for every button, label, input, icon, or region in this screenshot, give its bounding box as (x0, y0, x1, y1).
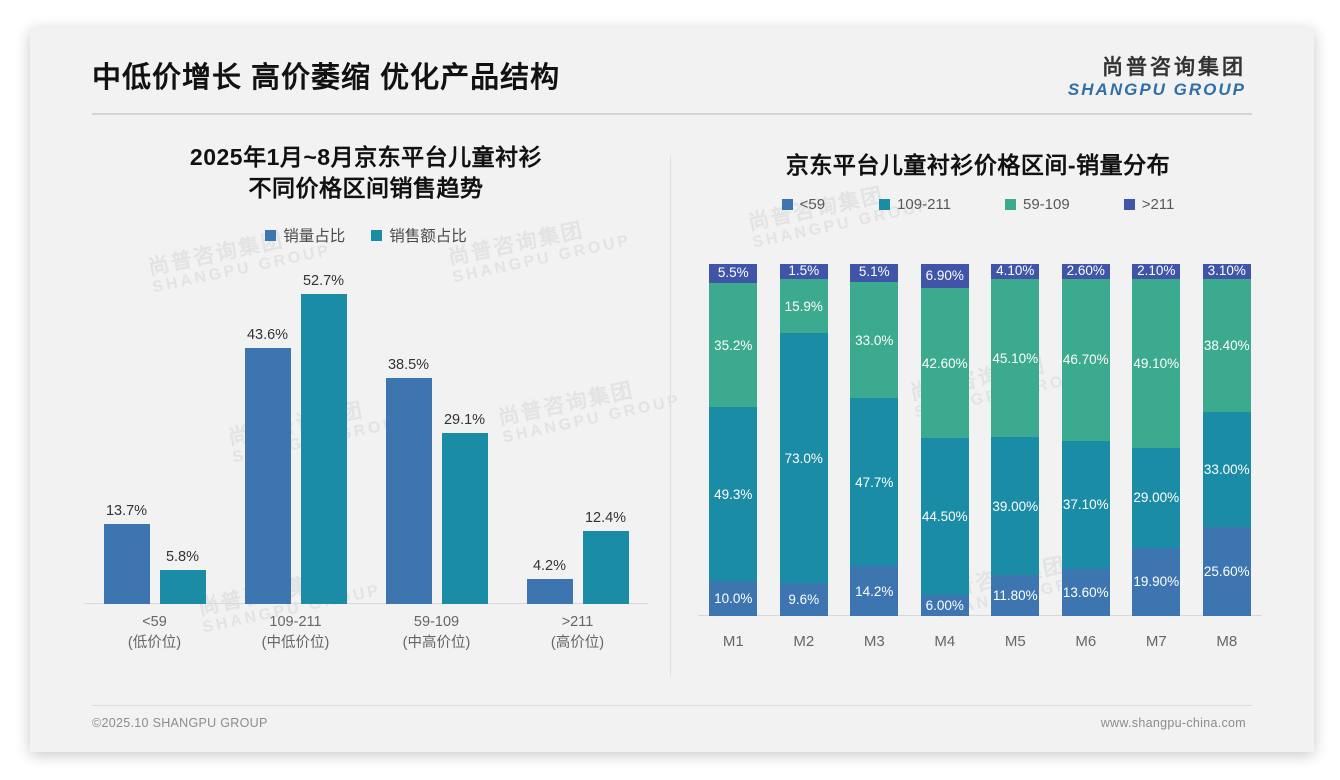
bar-group: 4.2% 12.4% (507, 256, 648, 604)
slide-card: 中低价增长 高价萎缩 优化产品结构 尚普咨询集团 SHANGPU GROUP 尚… (30, 28, 1314, 752)
stacked-column[interactable]: 1.5% 15.9% 73.0% 9.6% (769, 264, 840, 616)
segment-value-label: 33.00% (1204, 462, 1250, 477)
segment-value-label: 29.00% (1133, 490, 1179, 505)
footer-website[interactable]: www.shangpu-china.com (1101, 716, 1246, 730)
left-chart-panel: 2025年1月~8月京东平台儿童衬衫 不同价格区间销售趋势 销量占比 销售额占比… (66, 124, 666, 704)
x-axis-tick-label: M1 (698, 633, 769, 650)
stacked-column[interactable]: 5.1% 33.0% 47.7% 14.2% (839, 264, 910, 616)
stacked-column[interactable]: 5.5% 35.2% 49.3% 10.0% (698, 264, 769, 616)
x-axis-tick-sublabel: (中高价位) (366, 633, 507, 654)
segment-value-label: 2.60% (1067, 263, 1105, 278)
bar-value-label: 52.7% (303, 273, 344, 289)
stack-segment-under-59[interactable]: 9.6% (780, 583, 828, 616)
segment-value-label: 5.1% (859, 264, 890, 279)
stack: 2.10% 49.10% 29.00% 19.90% (1132, 264, 1180, 616)
segment-value-label: 35.2% (714, 338, 752, 353)
x-axis-tick-label: M7 (1121, 633, 1192, 650)
bar[interactable] (386, 378, 432, 604)
bar[interactable] (245, 348, 291, 604)
segment-value-label: 46.70% (1063, 352, 1109, 367)
segment-value-label: 25.60% (1204, 564, 1250, 579)
stack-segment-under-59[interactable]: 19.90% (1132, 548, 1180, 616)
x-axis-tick-label: >211 (507, 612, 648, 633)
stack-segment-59-109[interactable]: 15.9% (780, 279, 828, 333)
stack-segment-59-109[interactable]: 33.0% (850, 282, 898, 398)
stack-segment-over-211[interactable]: 4.10% (991, 264, 1039, 279)
x-axis-labels: <59 (低价位) 109-211 (中低价位) 59-109 (中高价位) >… (84, 606, 648, 652)
bar-value-label: 5.8% (166, 549, 199, 565)
legend-swatch-icon (1005, 199, 1016, 210)
stack: 4.10% 45.10% 39.00% 11.80% (991, 264, 1039, 616)
segment-value-label: 9.6% (788, 592, 819, 607)
stack-segment-under-59[interactable]: 13.60% (1062, 569, 1110, 616)
stacked-columns: 5.5% 35.2% 49.3% 10.0% 1.5% (698, 264, 1262, 616)
panel-divider (670, 156, 671, 676)
left-chart-legend: 销量占比 销售额占比 (66, 224, 666, 246)
legend-label: 销售额占比 (389, 224, 467, 246)
segment-value-label: 47.7% (855, 475, 893, 490)
segment-value-label: 45.10% (992, 351, 1038, 366)
stack-segment-over-211[interactable]: 6.90% (921, 264, 969, 288)
legend-label: 59-109 (1023, 196, 1070, 213)
bar-group: 13.7% 5.8% (84, 256, 225, 604)
legend-item-sales-amount[interactable]: 销售额占比 (371, 224, 467, 246)
stacked-column[interactable]: 3.10% 38.40% 33.00% 25.60% (1192, 264, 1263, 616)
stack-segment-under-59[interactable]: 25.60% (1203, 527, 1251, 616)
x-axis-tick-label: M5 (980, 633, 1051, 650)
brand-logo: 尚普咨询集团 SHANGPU GROUP (1068, 56, 1246, 100)
left-chart-title: 2025年1月~8月京东平台儿童衬衫 不同价格区间销售趋势 (66, 142, 666, 204)
segment-value-label: 38.40% (1204, 338, 1250, 353)
stack: 5.1% 33.0% 47.7% 14.2% (850, 264, 898, 616)
x-axis-tick-sublabel: (低价位) (84, 633, 225, 654)
bar-value-label: 38.5% (388, 357, 429, 373)
bar-value-label: 4.2% (533, 558, 566, 574)
stack: 2.60% 46.70% 37.10% 13.60% (1062, 264, 1110, 616)
legend-item-109-211[interactable]: 109-211 (879, 196, 951, 213)
footer-divider (92, 705, 1252, 706)
stack-segment-109-211[interactable]: 33.00% (1203, 412, 1251, 527)
legend-label: 109-211 (897, 196, 951, 213)
segment-value-label: 14.2% (855, 584, 893, 599)
stack-segment-under-59[interactable]: 6.00% (921, 595, 969, 616)
stack-segment-109-211[interactable]: 37.10% (1062, 441, 1110, 569)
stack-segment-109-211[interactable]: 49.3% (709, 407, 757, 581)
stack: 1.5% 15.9% 73.0% 9.6% (780, 264, 828, 616)
stack-segment-under-59[interactable]: 11.80% (991, 575, 1039, 616)
stack-segment-109-211[interactable]: 29.00% (1132, 448, 1180, 548)
x-axis-tick-label: M4 (910, 633, 981, 650)
bar-value-label: 43.6% (247, 327, 288, 343)
bar[interactable] (301, 294, 347, 604)
segment-value-label: 6.00% (926, 598, 964, 613)
bar-groups: 13.7% 5.8% 43.6% 52.7% (84, 256, 648, 604)
stacked-bar-chart: 5.5% 35.2% 49.3% 10.0% 1.5% (698, 236, 1262, 656)
bar-column[interactable]: 52.7% (301, 256, 347, 604)
bar[interactable] (104, 524, 150, 604)
bar-group: 43.6% 52.7% (225, 256, 366, 604)
stack-segment-under-59[interactable]: 10.0% (709, 581, 757, 616)
x-axis-tick-label: M8 (1192, 633, 1263, 650)
right-chart-panel: 京东平台儿童衬衫价格区间-销量分布 <59 109-211 59-109 >21… (678, 124, 1278, 704)
bar-value-label: 12.4% (585, 510, 626, 526)
stack: 6.90% 42.60% 44.50% 6.00% (921, 264, 969, 616)
segment-value-label: 49.3% (714, 487, 752, 502)
legend-swatch-icon (265, 230, 276, 241)
bar-group: 38.5% 29.1% (366, 256, 507, 604)
stack: 5.5% 35.2% 49.3% 10.0% (709, 264, 757, 616)
bar[interactable] (442, 433, 488, 604)
segment-value-label: 42.60% (922, 356, 968, 371)
legend-swatch-icon (782, 199, 793, 210)
bar[interactable] (160, 570, 206, 604)
stack-segment-over-211[interactable]: 3.10% (1203, 264, 1251, 279)
bar-value-label: 13.7% (106, 503, 147, 519)
x-axis-tick-sublabel: (中低价位) (225, 633, 366, 654)
stack: 3.10% 38.40% 33.00% 25.60% (1203, 264, 1251, 616)
segment-value-label: 2.10% (1137, 263, 1175, 278)
right-chart-title: 京东平台儿童衬衫价格区间-销量分布 (678, 150, 1278, 181)
bar-column[interactable]: 43.6% (245, 256, 291, 604)
bar-column[interactable]: 4.2% (527, 256, 573, 604)
stacked-column[interactable]: 2.10% 49.10% 29.00% 19.90% (1121, 264, 1192, 616)
stack-segment-109-211[interactable]: 47.7% (850, 398, 898, 566)
right-chart-legend: <59 109-211 59-109 >211 (678, 196, 1278, 213)
segment-value-label: 33.0% (855, 333, 893, 348)
stack-segment-109-211[interactable]: 44.50% (921, 438, 969, 595)
bar[interactable] (583, 531, 629, 604)
stack-segment-under-59[interactable]: 14.2% (850, 566, 898, 616)
legend-swatch-icon (879, 199, 890, 210)
segment-value-label: 19.90% (1133, 574, 1179, 589)
stack-segment-59-109[interactable]: 46.70% (1062, 279, 1110, 441)
stack-segment-59-109[interactable]: 42.60% (921, 288, 969, 438)
legend-item-under-59[interactable]: <59 (782, 196, 825, 213)
segment-value-label: 44.50% (922, 509, 968, 524)
x-axis-tick-label: M6 (1051, 633, 1122, 650)
stacked-column[interactable]: 2.60% 46.70% 37.10% 13.60% (1051, 264, 1122, 616)
x-axis-tick-label: 109-211 (225, 612, 366, 633)
stack-segment-109-211[interactable]: 73.0% (780, 333, 828, 583)
legend-item-sales-volume[interactable]: 销量占比 (265, 224, 345, 246)
segment-value-label: 1.5% (788, 263, 819, 278)
segment-value-label: 39.00% (992, 499, 1038, 514)
stack-segment-59-109[interactable]: 35.2% (709, 283, 757, 407)
stack-segment-59-109[interactable]: 45.10% (991, 279, 1039, 437)
bar-column[interactable]: 38.5% (386, 256, 432, 604)
stack-segment-over-211[interactable]: 5.1% (850, 264, 898, 282)
legend-swatch-icon (371, 230, 382, 241)
logo-chinese-text: 尚普咨询集团 (1068, 56, 1246, 80)
stacked-column[interactable]: 6.90% 42.60% 44.50% 6.00% (910, 264, 981, 616)
bar-value-label: 29.1% (444, 412, 485, 428)
stack-segment-109-211[interactable]: 39.00% (991, 437, 1039, 574)
segment-value-label: 15.9% (785, 299, 823, 314)
x-axis-tick-label: M3 (839, 633, 910, 650)
segment-value-label: 13.60% (1063, 585, 1109, 600)
segment-value-label: 11.80% (993, 588, 1038, 603)
slide-header: 中低价增长 高价萎缩 优化产品结构 尚普咨询集团 SHANGPU GROUP (30, 28, 1314, 116)
segment-value-label: 10.0% (714, 591, 752, 606)
legend-item-over-211[interactable]: >211 (1124, 196, 1175, 213)
legend-swatch-icon (1124, 199, 1135, 210)
bar-column[interactable]: 5.8% (160, 256, 206, 604)
segment-value-label: 4.10% (996, 263, 1034, 278)
x-axis-tick: >211 (高价位) (507, 606, 648, 652)
left-chart-title-line1: 2025年1月~8月京东平台儿童衬衫 (66, 142, 666, 173)
legend-label: <59 (800, 196, 825, 213)
bar-column[interactable]: 29.1% (442, 256, 488, 604)
bar-column[interactable]: 13.7% (104, 256, 150, 604)
stack-segment-over-211[interactable]: 2.10% (1132, 264, 1180, 279)
legend-label: >211 (1142, 196, 1175, 213)
segment-value-label: 6.90% (926, 268, 964, 283)
stack-segment-59-109[interactable]: 38.40% (1203, 279, 1251, 412)
legend-label: 销量占比 (283, 224, 345, 246)
x-axis-tick: <59 (低价位) (84, 606, 225, 652)
x-axis-tick-label: 59-109 (366, 612, 507, 633)
segment-value-label: 37.10% (1063, 497, 1109, 512)
left-chart-title-line2: 不同价格区间销售趋势 (66, 173, 666, 204)
bar[interactable] (527, 579, 573, 604)
x-axis-tick-sublabel: (高价位) (507, 633, 648, 654)
stack-segment-over-211[interactable]: 1.5% (780, 264, 828, 279)
stack-segment-59-109[interactable]: 49.10% (1132, 279, 1180, 448)
legend-item-59-109[interactable]: 59-109 (1005, 196, 1070, 213)
logo-english-text: SHANGPU GROUP (1068, 80, 1246, 100)
page-title: 中低价增长 高价萎缩 优化产品结构 (92, 54, 560, 96)
segment-value-label: 49.10% (1133, 356, 1179, 371)
x-axis-tick-label: <59 (84, 612, 225, 633)
x-axis-tick: 59-109 (中高价位) (366, 606, 507, 652)
x-axis-labels: M1 M2 M3 M4 M5 M6 M7 M8 (698, 633, 1262, 650)
x-axis-tick: 109-211 (中低价位) (225, 606, 366, 652)
x-axis-tick-label: M2 (769, 633, 840, 650)
stack-segment-over-211[interactable]: 5.5% (709, 264, 757, 283)
segment-value-label: 3.10% (1208, 263, 1246, 278)
bar-column[interactable]: 12.4% (583, 256, 629, 604)
footer-copyright: ©2025.10 SHANGPU GROUP (92, 716, 268, 730)
grouped-bar-chart: 13.7% 5.8% 43.6% 52.7% (84, 256, 648, 652)
stack-segment-over-211[interactable]: 2.60% (1062, 264, 1110, 279)
stacked-column[interactable]: 4.10% 45.10% 39.00% 11.80% (980, 264, 1051, 616)
segment-value-label: 5.5% (718, 265, 749, 280)
segment-value-label: 73.0% (785, 451, 823, 466)
title-divider (92, 113, 1252, 115)
